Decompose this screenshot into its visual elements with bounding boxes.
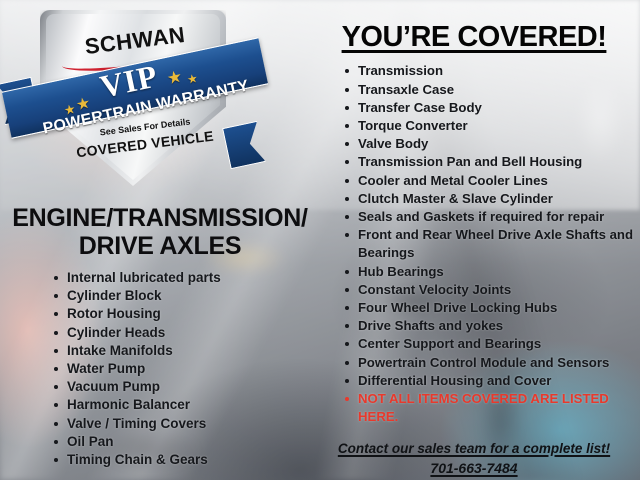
list-item: NOT ALL ITEMS COVERED ARE LISTED HERE. xyxy=(343,390,640,426)
left-heading-line-1: ENGINE/TRANSMISSION/ xyxy=(0,205,320,233)
list-item: Torque Converter xyxy=(343,117,640,135)
contact-cta: Contact our sales team for a complete li… xyxy=(308,441,640,456)
left-column: ENGINE/TRANSMISSION/ DRIVE AXLES Interna… xyxy=(0,205,320,469)
right-covered-list: TransmissionTransaxle CaseTransfer Case … xyxy=(343,62,640,426)
list-item: Differential Housing and Cover xyxy=(343,372,640,390)
list-item: Timing Chain & Gears xyxy=(52,451,320,469)
left-covered-list: Internal lubricated partsCylinder BlockR… xyxy=(52,269,320,469)
list-item: Hub Bearings xyxy=(343,263,640,281)
star-icon: ★ xyxy=(186,71,199,87)
list-item: Transaxle Case xyxy=(343,81,640,99)
left-heading-line-2: DRIVE AXLES xyxy=(0,233,320,261)
right-column: YOU’RE COVERED! TransmissionTransaxle Ca… xyxy=(308,22,640,476)
list-item: Transmission xyxy=(343,62,640,80)
list-item: Cylinder Block xyxy=(52,287,320,305)
vip-warranty-badge: SCHWAN ★ ★ ★ ★ VIP POWERTRAIN WARRANTY S… xyxy=(14,6,254,196)
list-item: Valve Body xyxy=(343,135,640,153)
list-item: Four Wheel Drive Locking Hubs xyxy=(343,299,640,317)
list-item: Drive Shafts and yokes xyxy=(343,317,640,335)
list-item: Center Support and Bearings xyxy=(343,335,640,353)
list-item: Water Pump xyxy=(52,360,320,378)
list-item: Cooler and Metal Cooler Lines xyxy=(343,172,640,190)
list-item: Valve / Timing Covers xyxy=(52,415,320,433)
list-item: Oil Pan xyxy=(52,433,320,451)
list-item: Seals and Gaskets if required for repair xyxy=(343,208,640,226)
left-heading: ENGINE/TRANSMISSION/ DRIVE AXLES xyxy=(0,205,320,260)
phone-number[interactable]: 701-663-7484 xyxy=(308,460,640,476)
page-title: YOU’RE COVERED! xyxy=(308,22,640,52)
list-item: Constant Velocity Joints xyxy=(343,281,640,299)
list-item: Powertrain Control Module and Sensors xyxy=(343,354,640,372)
list-item: Transfer Case Body xyxy=(343,99,640,117)
list-item: Rotor Housing xyxy=(52,305,320,323)
list-item: Vacuum Pump xyxy=(52,378,320,396)
list-item: Front and Rear Wheel Drive Axle Shafts a… xyxy=(343,226,640,262)
list-item: Transmission Pan and Bell Housing xyxy=(343,153,640,171)
list-item: Internal lubricated parts xyxy=(52,269,320,287)
warranty-poster: SCHWAN ★ ★ ★ ★ VIP POWERTRAIN WARRANTY S… xyxy=(0,0,640,480)
list-item: Clutch Master & Slave Cylinder xyxy=(343,190,640,208)
list-item: Intake Manifolds xyxy=(52,342,320,360)
list-item: Harmonic Balancer xyxy=(52,396,320,414)
list-item: Cylinder Heads xyxy=(52,324,320,342)
